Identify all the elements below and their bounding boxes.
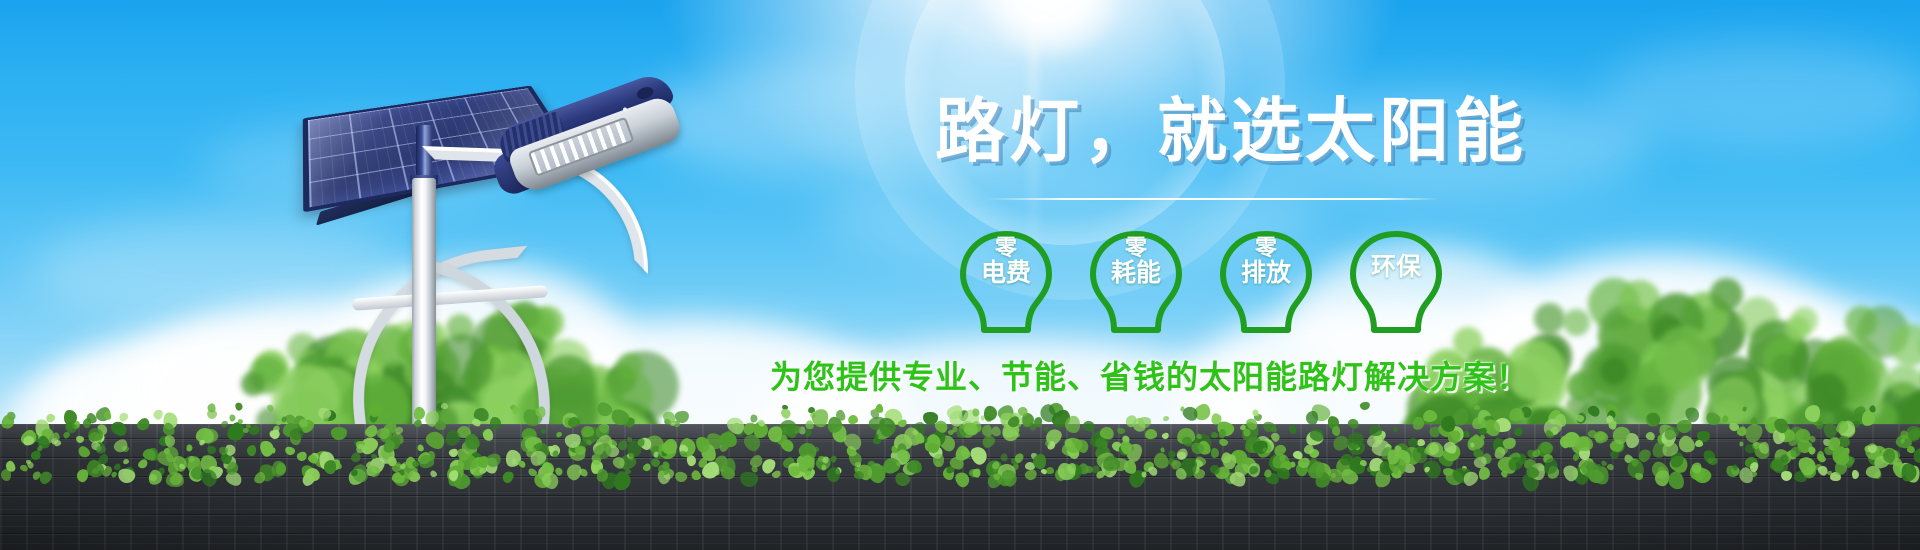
page-title: 路灯，就选太阳能 <box>935 96 1527 166</box>
feature-badge: 零耗能 <box>1080 230 1192 348</box>
feature-badge: 环保 <box>1340 230 1452 348</box>
badge-text: 零耗能 <box>1080 238 1192 286</box>
feature-badge-list: 零电费零耗能零排放环保 <box>950 230 1470 350</box>
badge-text: 环保 <box>1340 254 1452 280</box>
badge-text: 零排放 <box>1210 238 1322 286</box>
badge-word-label: 环保 <box>1340 254 1452 280</box>
feature-badge: 零排放 <box>1210 230 1322 348</box>
badge-word-label: 排放 <box>1210 260 1322 286</box>
banner-copy: 路灯，就选太阳能 零电费零耗能零排放环保 为您提供专业、节能、省钱的太阳能路灯解… <box>0 0 1920 550</box>
badge-word-label: 耗能 <box>1080 260 1192 286</box>
badge-text: 零电费 <box>950 238 1062 286</box>
banner-tagline: 为您提供专业、节能、省钱的太阳能路灯解决方案！ <box>770 352 1529 398</box>
feature-badge: 零电费 <box>950 230 1062 348</box>
solar-street-light-banner: 路灯，就选太阳能 零电费零耗能零排放环保 为您提供专业、节能、省钱的太阳能路灯解… <box>0 0 1920 550</box>
bulb-icon <box>1346 230 1446 346</box>
badge-word-label: 电费 <box>950 260 1062 286</box>
title-divider <box>985 198 1440 200</box>
